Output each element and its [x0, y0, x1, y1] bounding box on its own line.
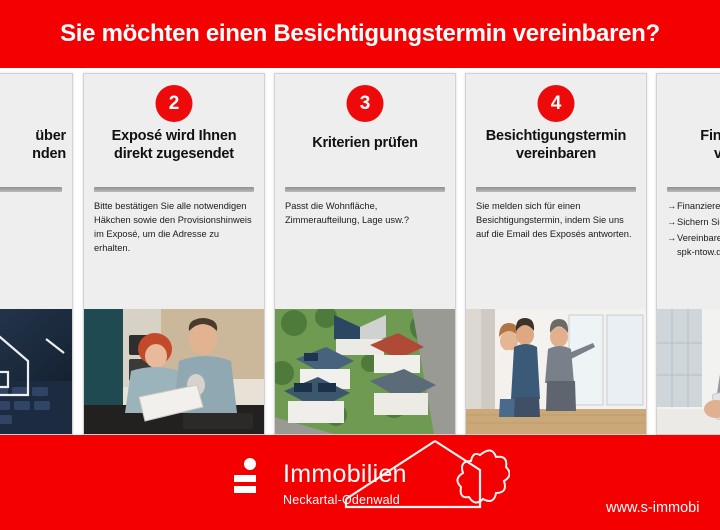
- step-card-2-title: Exposé wird Ihnen direkt zugesendet: [92, 127, 256, 163]
- step-card-2-body: 2 Exposé wird Ihnen direkt zugesendet Bi…: [84, 74, 264, 309]
- step-card-5-divider: [667, 187, 720, 192]
- step-card-4-body: 4 Besichtigungstermin vereinbaren Sie me…: [466, 74, 646, 309]
- laptop-house-icon-photo: [0, 309, 72, 434]
- step-card-3-divider: [285, 187, 445, 192]
- step-card-2-text: Bitte bestätigen Sie alle notwendigen Hä…: [94, 199, 254, 256]
- step-card-4-title-line2: vereinbaren: [474, 145, 638, 163]
- step-card-1[interactable]: 1 über nden: [0, 73, 73, 435]
- step-card-1-title: über nden: [0, 127, 66, 163]
- step-cards-container: 1 über nden: [0, 73, 720, 435]
- step-card-5[interactable]: 5 Finanzie vere →Finanzieren Wunschimm →…: [656, 73, 720, 435]
- header-banner: Sie möchten einen Besichtigungstermin ve…: [0, 0, 720, 68]
- step-number-badge-2: 2: [156, 85, 193, 122]
- poster-root: Sie möchten einen Besichtigungstermin ve…: [0, 0, 720, 530]
- step-card-5-title-line2: vere: [665, 145, 720, 163]
- step-card-4-title: Besichtigungstermin vereinbaren: [474, 127, 638, 163]
- step-card-2-title-line1: Exposé wird Ihnen: [92, 127, 256, 145]
- step-card-5-bullet-list: →Finanzieren Wunschimm →Sichern Sie s Fi…: [667, 199, 720, 260]
- step-card-5-body: 5 Finanzie vere →Finanzieren Wunschimm →…: [657, 74, 720, 309]
- step-card-3-text: Passt die Wohnfläche, Zimmeraufteilung, …: [285, 199, 445, 227]
- step-card-4-title-line1: Besichtigungstermin: [474, 127, 638, 145]
- step-card-4[interactable]: 4 Besichtigungstermin vereinbaren Sie me…: [465, 73, 647, 435]
- step-card-1-body: 1 über nden: [0, 74, 72, 309]
- step-card-3-title: Kriterien prüfen: [283, 134, 447, 152]
- logo-region-text: Neckartal-Odenwald: [283, 494, 407, 507]
- step-card-4-divider: [476, 187, 636, 192]
- step-card-3-title-line1: Kriterien prüfen: [283, 134, 447, 152]
- step-card-5-bullet-1: Finanzieren Wunschimm: [677, 201, 720, 211]
- step-card-1-title-line2: nden: [0, 145, 66, 163]
- step-card-2-title-line2: direkt zugesendet: [92, 145, 256, 163]
- list-item: →Vereinbaren einen Termin spk-ntow.de: [667, 231, 720, 259]
- logo-brand-text: Immobilien: [283, 462, 407, 487]
- list-item: →Finanzieren Wunschimm: [667, 199, 720, 213]
- arrow-right-icon: →: [667, 215, 676, 229]
- man-with-tablet-photo: [657, 309, 720, 434]
- list-item: →Sichern Sie s Finanzierung: [667, 215, 720, 229]
- step-card-1-divider: [0, 187, 62, 192]
- step-number-badge-4: 4: [538, 85, 575, 122]
- step-number-badge-3: 3: [347, 85, 384, 122]
- agent-showing-apartment-photo: [466, 309, 646, 434]
- step-card-5-text: →Finanzieren Wunschimm →Sichern Sie s Fi…: [667, 199, 720, 262]
- sparkasse-logo: Immobilien Neckartal-Odenwald: [228, 453, 407, 507]
- step-card-5-title: Finanzie vere: [665, 127, 720, 163]
- footer-website-url[interactable]: www.s-immobi: [606, 500, 699, 516]
- step-card-4-text: Sie melden sich für einen Besichtigungst…: [476, 199, 636, 241]
- step-card-5-bullet-2: Sichern Sie s Finanzierung: [677, 217, 720, 227]
- arrow-right-icon: →: [667, 231, 676, 245]
- step-card-3-body: 3 Kriterien prüfen Passt die Wohnfläche,…: [275, 74, 455, 309]
- couple-reading-documents-photo: [84, 309, 264, 434]
- step-card-5-title-line1: Finanzie: [665, 127, 720, 145]
- logo-text-block: Immobilien Neckartal-Odenwald: [283, 453, 407, 507]
- step-card-5-bullet-3: Vereinbaren einen Termin spk-ntow.de: [677, 233, 720, 257]
- step-card-2-divider: [94, 187, 254, 192]
- sparkasse-s-icon: [228, 457, 272, 501]
- arrow-right-icon: →: [667, 199, 676, 213]
- step-card-2[interactable]: 2 Exposé wird Ihnen direkt zugesendet Bi…: [83, 73, 265, 435]
- step-card-3[interactable]: 3 Kriterien prüfen Passt die Wohnfläche,…: [274, 73, 456, 435]
- page-title: Sie möchten einen Besichtigungstermin ve…: [60, 20, 660, 48]
- step-card-1-title-line1: über: [0, 127, 66, 145]
- aerial-housing-estate-photo: [275, 309, 455, 434]
